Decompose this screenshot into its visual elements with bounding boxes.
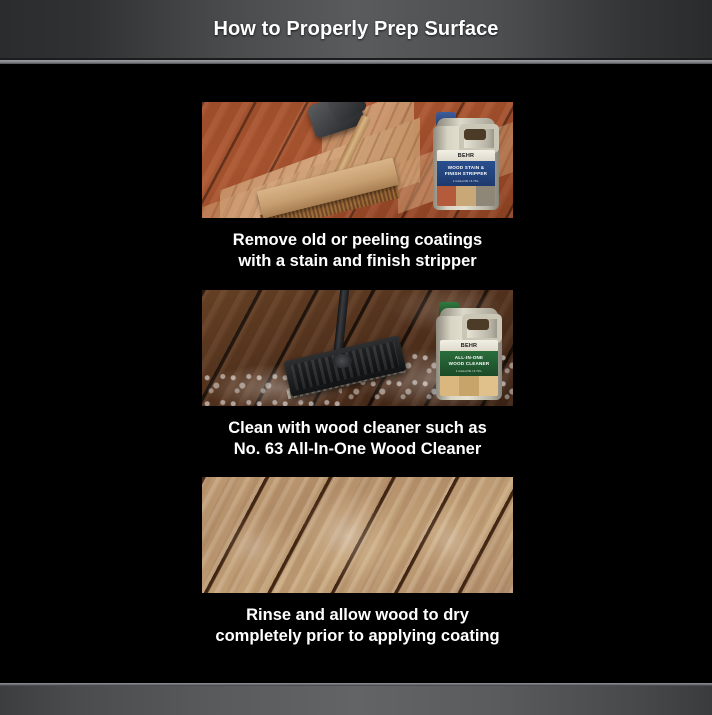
product-name-line2: FINISH STRIPPER: [445, 171, 487, 177]
product-name-line2: WOOD CLEANER: [449, 361, 490, 367]
caption-line-2: No. 63 All-In-One Wood Cleaner: [202, 439, 513, 460]
wood-grain-highlight: [412, 501, 486, 581]
instructional-panel: How to Properly Prep Surface: [0, 0, 712, 715]
wood-grain-highlight: [212, 511, 292, 581]
step-3-photo: [202, 477, 513, 593]
step-3-caption: Rinse and allow wood to dry completely p…: [202, 605, 513, 647]
jug-label-band: ALL-IN-ONE WOOD CLEANER 1 GALLON / 3.79 …: [440, 351, 498, 376]
brand-name: BEHR: [458, 153, 474, 159]
caption-line-1: Remove old or peeling coatings: [202, 230, 513, 251]
caption-line-2: with a stain and finish stripper: [202, 251, 513, 272]
wood-grain-highlight: [298, 487, 394, 583]
step-2-photo: BEHR ALL-IN-ONE WOOD CLEANER 1 GALLON / …: [202, 290, 513, 406]
product-jug-stripper: BEHR WOOD STAIN & FINISH STRIPPER 1 GALL…: [433, 112, 499, 210]
step-item-2: BEHR ALL-IN-ONE WOOD CLEANER 1 GALLON / …: [202, 290, 513, 460]
jug-label: BEHR WOOD STAIN & FINISH STRIPPER 1 GALL…: [437, 150, 495, 206]
jug-label-band: WOOD STAIN & FINISH STRIPPER 1 GALLON / …: [437, 161, 495, 186]
product-subtext: 1 GALLON / 3.79 L: [456, 369, 482, 373]
steps-stage: BEHR WOOD STAIN & FINISH STRIPPER 1 GALL…: [0, 64, 712, 683]
product-jug-cleaner: BEHR ALL-IN-ONE WOOD CLEANER 1 GALLON / …: [436, 302, 502, 400]
step-2-caption: Clean with wood cleaner such as No. 63 A…: [202, 418, 513, 460]
product-subtext: 1 GALLON / 3.79 L: [453, 179, 479, 183]
jug-brand-bar: BEHR: [437, 150, 495, 161]
jug-label: BEHR ALL-IN-ONE WOOD CLEANER 1 GALLON / …: [440, 340, 498, 396]
step-1-caption: Remove old or peeling coatings with a st…: [202, 230, 513, 272]
caption-line-1: Clean with wood cleaner such as: [202, 418, 513, 439]
brand-name: BEHR: [461, 343, 477, 349]
jug-label-photo: [437, 186, 495, 206]
jug-handle-hole: [467, 319, 489, 330]
page-title: How to Properly Prep Surface: [0, 0, 712, 58]
jug-label-photo: [440, 376, 498, 396]
step-item-1: BEHR WOOD STAIN & FINISH STRIPPER 1 GALL…: [202, 102, 513, 272]
jug-handle-hole: [464, 129, 486, 140]
caption-line-1: Rinse and allow wood to dry: [202, 605, 513, 626]
caption-line-2: completely prior to applying coating: [202, 626, 513, 647]
scrub-brush-collar: [332, 354, 352, 368]
step-1-photo: BEHR WOOD STAIN & FINISH STRIPPER 1 GALL…: [202, 102, 513, 218]
step-item-3: Rinse and allow wood to dry completely p…: [202, 477, 513, 647]
footer-bar: [0, 686, 712, 715]
jug-brand-bar: BEHR: [440, 340, 498, 351]
